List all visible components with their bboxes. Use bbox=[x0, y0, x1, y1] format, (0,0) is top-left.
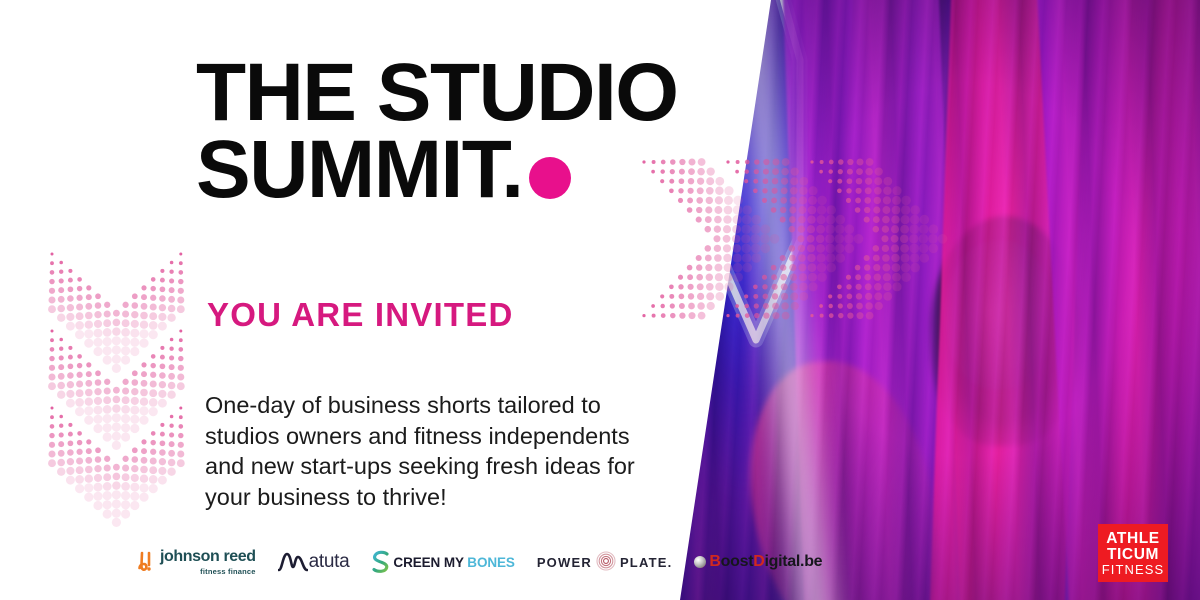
bd-tail: igital.be bbox=[765, 553, 823, 570]
boost-digital-sphere-icon bbox=[694, 556, 706, 568]
headline-line-2-text: SUMMIT. bbox=[196, 124, 523, 215]
boost-digital-wordmark: BoostDigital.be bbox=[709, 553, 822, 571]
johnson-reed-wordmark: johnson reed fitness finance bbox=[160, 549, 256, 575]
bd-b: B bbox=[709, 553, 720, 570]
title-accent-dot bbox=[529, 157, 571, 199]
sponsor-logo-matuta[interactable]: atuta bbox=[278, 545, 350, 579]
sponsor-logo-boost-digital[interactable]: BoostDigital.be bbox=[694, 545, 822, 579]
johnson-reed-hook-icon bbox=[138, 551, 155, 573]
athleticum-line-3: FITNESS bbox=[1102, 563, 1165, 577]
headline-line-2: SUMMIT. bbox=[196, 131, 816, 208]
smb-part-2: BONES bbox=[467, 555, 515, 570]
page-title: THE STUDIO SUMMIT. bbox=[196, 54, 816, 208]
event-invitation-banner: THE STUDIO SUMMIT. YOU ARE INVITED One-d… bbox=[0, 0, 1200, 600]
chevron-down-dots-icon bbox=[48, 292, 208, 537]
bd-d: D bbox=[753, 553, 764, 570]
sponsor-logo-screen-my-bones[interactable]: CREEN MY BONES bbox=[371, 545, 514, 579]
power-plate-word-1: POWER bbox=[537, 555, 592, 570]
invitation-kicker: YOU ARE INVITED bbox=[207, 296, 513, 334]
power-plate-word-2: PLATE. bbox=[620, 555, 672, 570]
sponsor-logo-power-plate[interactable]: POWER PLATE. bbox=[537, 545, 673, 579]
description-line-4: your business to thrive! bbox=[205, 482, 705, 513]
johnson-reed-tagline: fitness finance bbox=[160, 568, 256, 576]
power-plate-ripple-icon bbox=[595, 550, 617, 574]
johnson-reed-name: johnson reed bbox=[160, 549, 256, 565]
athleticum-line-2: TICUM bbox=[1107, 547, 1159, 563]
sponsor-logo-row: johnson reed fitness finance atuta bbox=[138, 545, 822, 579]
matuta-wordmark: atuta bbox=[309, 551, 350, 573]
description-line-2: studios owners and fitness independents bbox=[205, 421, 705, 452]
athleticum-line-1: ATHLE bbox=[1106, 531, 1160, 547]
screen-my-bones-s-icon bbox=[371, 550, 391, 574]
event-description: One-day of business shorts tailored to s… bbox=[205, 390, 705, 512]
description-line-1: One-day of business shorts tailored to bbox=[205, 390, 705, 421]
bd-oost: oost bbox=[721, 553, 754, 570]
screen-my-bones-wordmark: CREEN MY BONES bbox=[393, 555, 514, 570]
sponsor-logo-johnson-reed[interactable]: johnson reed fitness finance bbox=[138, 545, 256, 579]
smb-part-1: CREEN MY bbox=[393, 555, 463, 570]
description-line-3: and new start-ups seeking fresh ideas fo… bbox=[205, 451, 705, 482]
athleticum-fitness-logo[interactable]: ATHLE TICUM FITNESS bbox=[1098, 524, 1168, 582]
matuta-wave-m-icon bbox=[278, 550, 308, 574]
